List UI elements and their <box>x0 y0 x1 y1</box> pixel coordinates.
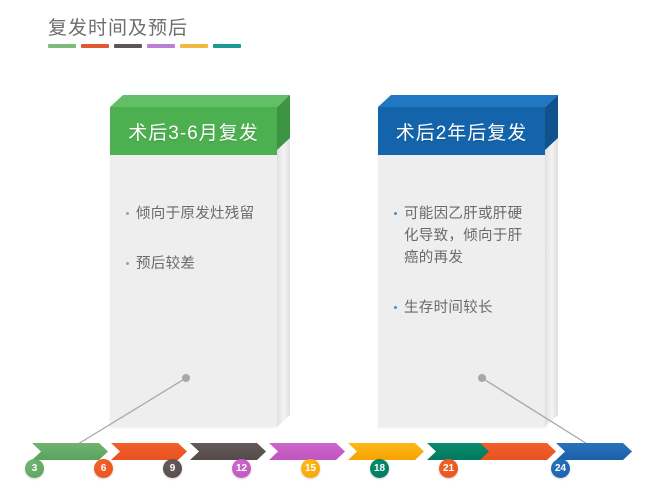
timeline-segment-12[interactable] <box>269 443 345 460</box>
accent-rule-1 <box>81 44 109 48</box>
info-card-1[interactable]: 术后2年后复发可能因乙肝或肝硬化导致，倾向于肝癌的再发生存时间较长 <box>378 95 545 415</box>
accent-rule-group <box>48 44 241 48</box>
timeline-node-12[interactable]: 12 <box>232 459 251 478</box>
card-header-bar: 术后3-6月复发 <box>110 107 277 155</box>
timeline-node-label: 15 <box>305 463 316 474</box>
card-header-title: 术后2年后复发 <box>396 118 528 145</box>
timeline-node-label: 3 <box>32 463 38 474</box>
timeline-axis: 3691215182124 <box>0 440 647 489</box>
accent-rule-5 <box>213 44 241 48</box>
timeline-node-label: 9 <box>170 463 176 474</box>
timeline-node-24[interactable]: 24 <box>551 459 570 478</box>
timeline-node-label: 6 <box>101 463 107 474</box>
bullet-text: 倾向于原发灶残留 <box>136 203 254 225</box>
bullet-item: 预后较差 <box>126 253 263 275</box>
page-header: 复发时间及预后 <box>48 16 348 42</box>
accent-rule-0 <box>48 44 76 48</box>
card-header-title: 术后3-6月复发 <box>128 118 258 145</box>
card-header-bar: 术后2年后复发 <box>378 107 545 155</box>
timeline-segment-9[interactable] <box>190 443 266 460</box>
bullet-text: 生存时间较长 <box>404 297 493 319</box>
card-body: 术后2年后复发可能因乙肝或肝硬化导致，倾向于肝癌的再发生存时间较长 <box>378 107 545 427</box>
accent-rule-3 <box>147 44 175 48</box>
timeline-node-label: 24 <box>555 463 566 474</box>
bullet-dot-icon <box>126 262 129 265</box>
bullet-item: 倾向于原发灶残留 <box>126 203 263 225</box>
card-content: 可能因乙肝或肝硬化导致，倾向于肝癌的再发生存时间较长 <box>378 155 545 319</box>
card-content: 倾向于原发灶残留预后较差 <box>110 155 277 275</box>
timeline-node-18[interactable]: 18 <box>370 459 389 478</box>
timeline-node-9[interactable]: 9 <box>163 459 182 478</box>
timeline-segment-15[interactable] <box>348 443 424 460</box>
bullet-dot-icon <box>394 212 397 215</box>
card-top-face <box>110 95 277 107</box>
bullet-text: 可能因乙肝或肝硬化导致，倾向于肝癌的再发 <box>404 203 531 269</box>
timeline-node-label: 21 <box>443 463 454 474</box>
info-card-0[interactable]: 术后3-6月复发倾向于原发灶残留预后较差 <box>110 95 277 415</box>
timeline-node-label: 12 <box>236 463 247 474</box>
bullet-text: 预后较差 <box>136 253 195 275</box>
card-top-face <box>378 95 545 107</box>
timeline-segment-24[interactable] <box>556 443 632 460</box>
timeline-segment-6[interactable] <box>111 443 187 460</box>
bullet-item: 生存时间较长 <box>394 297 531 319</box>
bullet-dot-icon <box>126 212 129 215</box>
card-body: 术后3-6月复发倾向于原发灶残留预后较差 <box>110 107 277 427</box>
timeline-node-21[interactable]: 21 <box>439 459 458 478</box>
timeline-node-label: 18 <box>374 463 385 474</box>
bullet-dot-icon <box>394 306 397 309</box>
timeline-node-15[interactable]: 15 <box>301 459 320 478</box>
bullet-item: 可能因乙肝或肝硬化导致，倾向于肝癌的再发 <box>394 203 531 269</box>
timeline-node-3[interactable]: 3 <box>25 459 44 478</box>
timeline-segment-3[interactable] <box>32 443 108 460</box>
timeline-node-6[interactable]: 6 <box>94 459 113 478</box>
timeline-segment-21[interactable] <box>480 443 556 460</box>
page-title: 复发时间及预后 <box>48 16 348 42</box>
accent-rule-2 <box>114 44 142 48</box>
accent-rule-4 <box>180 44 208 48</box>
